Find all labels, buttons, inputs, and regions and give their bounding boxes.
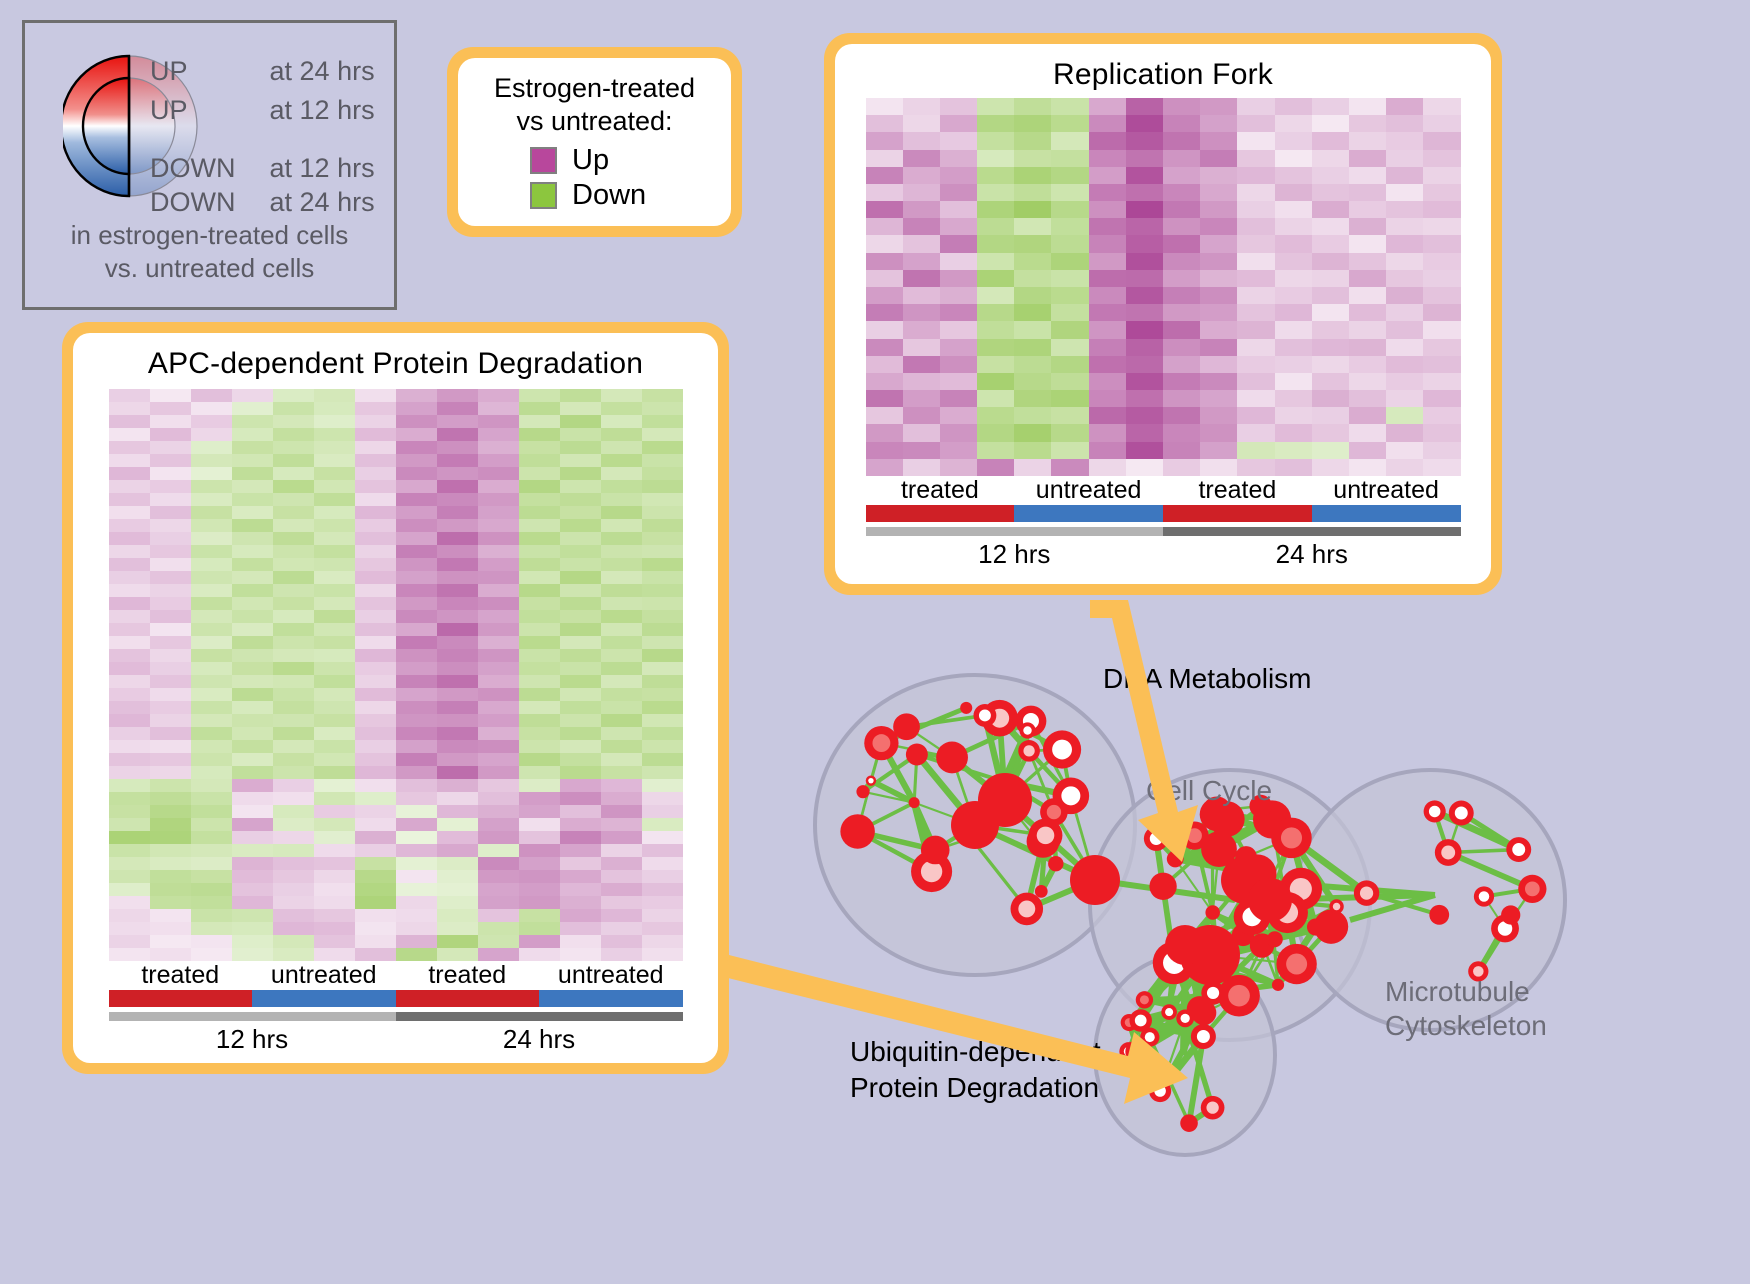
arrow-apc: [724, 955, 1188, 1104]
arrow-replication-fork: [1090, 600, 1198, 862]
connector-arrows: [0, 0, 1750, 1279]
